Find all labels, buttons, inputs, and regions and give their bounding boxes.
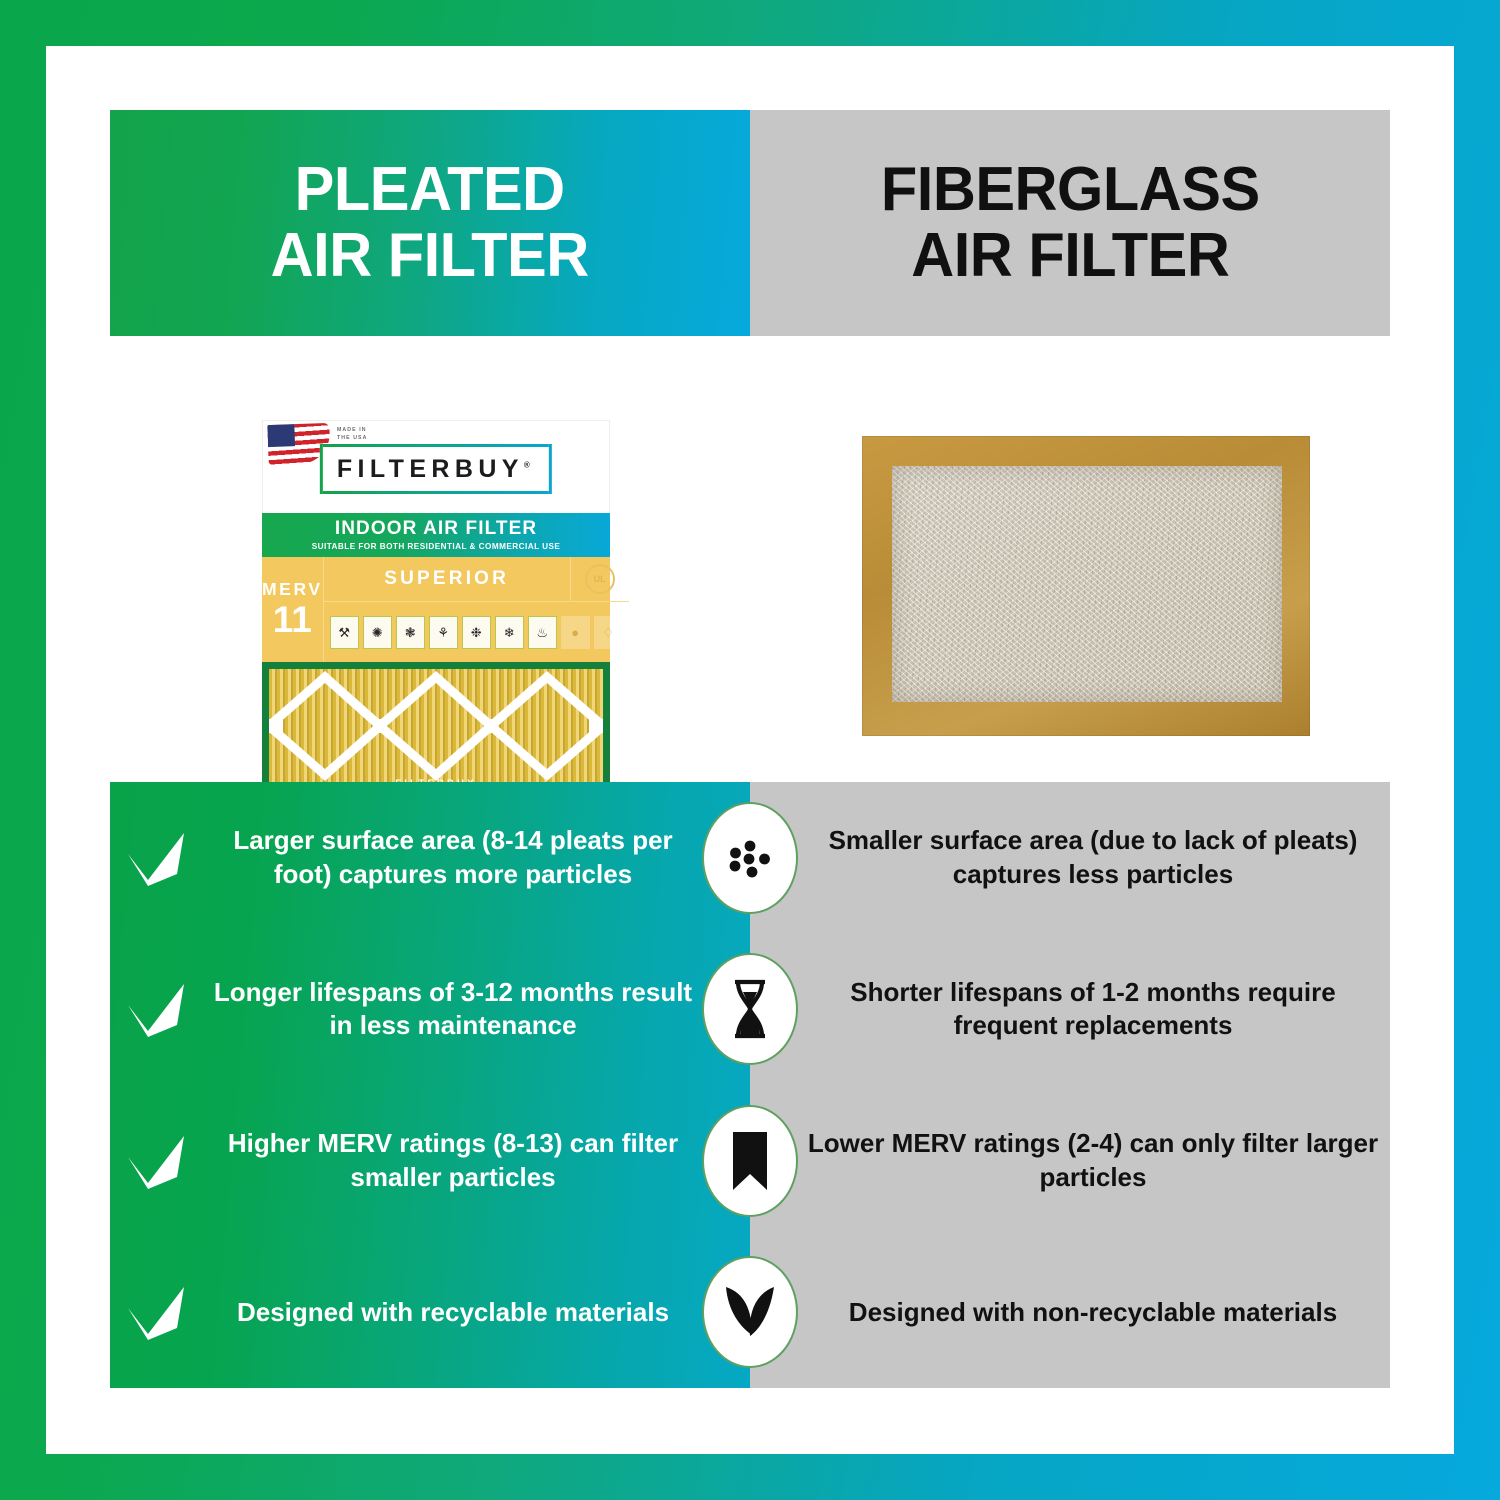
package-banner: INDOOR AIR FILTER SUITABLE FOR BOTH RESI… — [262, 513, 610, 557]
row-4-right-text: Designed with non-recyclable materials — [796, 1296, 1390, 1329]
pleat-fabric — [269, 669, 603, 783]
brand-word: FILTERBUY — [337, 455, 524, 483]
grade-label: SUPERIOR — [324, 568, 570, 590]
insect-icon: ✺ — [363, 616, 392, 649]
header-pleated-line2: AIR FILTER — [271, 221, 589, 290]
merv-value: 11 — [273, 601, 312, 638]
row-4-left-text: Designed with recyclable materials — [202, 1296, 704, 1329]
check-icon — [110, 830, 202, 886]
mold-icon: ⚘ — [429, 616, 458, 649]
header-fiberglass-line1: FIBERGLASS — [881, 155, 1260, 224]
header-pleated: PLEATED AIR FILTER — [110, 110, 750, 336]
header-pleated-line1: PLEATED — [295, 155, 565, 224]
made-in-usa-label: MADE INTHE USA — [337, 427, 367, 443]
row-4-left: Designed with recyclable materials — [110, 1284, 750, 1340]
header-pleated-title: PLEATED AIR FILTER — [271, 157, 589, 290]
feature-icon-row: ⚒ ✺ ❃ ⚘ ❉ ❄ ♨ ● ♢ — [324, 602, 629, 662]
ul-seal-icon: UL — [585, 564, 615, 594]
fiberglass-product-cell — [750, 336, 1390, 766]
pleated-media-face: FILTERBUY — [262, 662, 610, 790]
row-1-left: Larger surface area (8-14 pleats per foo… — [110, 824, 750, 891]
pleated-filter-package: MADE INTHE USA FILTERBUY® INDOOR AIR FIL… — [262, 420, 610, 790]
pleated-product-cell: MADE INTHE USA FILTERBUY® INDOOR AIR FIL… — [110, 336, 750, 766]
merv-label: MERV — [262, 581, 323, 599]
bookmark-icon — [702, 1105, 798, 1217]
merv-badge: MERV 11 — [262, 557, 324, 662]
row-3-right-text: Lower MERV ratings (2-4) can only filter… — [796, 1127, 1390, 1194]
package-brand-header: MADE INTHE USA FILTERBUY® — [262, 420, 610, 513]
row-1-right: Smaller surface area (due to lack of ple… — [750, 824, 1390, 891]
row-2-right-text: Shorter lifespans of 1-2 months require … — [796, 976, 1390, 1043]
package-banner-subtitle: SUITABLE FOR BOTH RESIDENTIAL & COMMERCI… — [312, 542, 561, 551]
comparison-row: Longer lifespans of 3-12 months result i… — [110, 934, 1390, 1086]
filterbuy-logo: FILTERBUY® — [320, 444, 552, 494]
registered-mark: ® — [524, 461, 535, 470]
row-3-right: Lower MERV ratings (2-4) can only filter… — [750, 1127, 1390, 1194]
comparison-row: Designed with recyclable materials Desig… — [110, 1237, 1390, 1389]
leaf-icon — [702, 1256, 798, 1368]
comparison-row: Higher MERV ratings (8-13) can filter sm… — [110, 1085, 1390, 1237]
odor-icon: ♢ — [594, 616, 623, 649]
fiberglass-filter-image — [862, 436, 1310, 736]
header-fiberglass-title: FIBERGLASS AIR FILTER — [881, 157, 1260, 290]
package-merv-section: MERV 11 SUPERIOR UL ⚒ ✺ ❃ — [262, 557, 610, 662]
package-banner-title: INDOOR AIR FILTER — [335, 519, 537, 539]
row-2-left-text: Longer lifespans of 3-12 months result i… — [202, 976, 704, 1043]
fiberglass-mesh — [892, 466, 1282, 702]
row-1-left-text: Larger surface area (8-14 pleats per foo… — [202, 824, 704, 891]
header-band: PLEATED AIR FILTER FIBERGLASS AIR FILTER — [110, 110, 1390, 336]
comparison-panel: Larger surface area (8-14 pleats per foo… — [110, 782, 1390, 1388]
comparison-row: Larger surface area (8-14 pleats per foo… — [110, 782, 1390, 934]
pet-dander-icon: ❄ — [495, 616, 524, 649]
comparison-rows: Larger surface area (8-14 pleats per foo… — [110, 782, 1390, 1388]
check-icon — [110, 981, 202, 1037]
diamond-lattice-icon — [269, 669, 603, 783]
filterbuy-logo-text: FILTERBUY® — [337, 457, 535, 482]
row-2-left: Longer lifespans of 3-12 months result i… — [110, 976, 750, 1043]
outer-gradient-border: PLEATED AIR FILTER FIBERGLASS AIR FILTER… — [0, 0, 1500, 1500]
row-3-left: Higher MERV ratings (8-13) can filter sm… — [110, 1127, 750, 1194]
row-3-left-text: Higher MERV ratings (8-13) can filter sm… — [202, 1127, 704, 1194]
virus-icon: ● — [561, 616, 590, 649]
ul-seal-area: UL — [570, 557, 629, 601]
bacteria-icon: ❉ — [462, 616, 491, 649]
row-4-right: Designed with non-recyclable materials — [750, 1296, 1390, 1329]
infographic-canvas: PLEATED AIR FILTER FIBERGLASS AIR FILTER… — [46, 46, 1454, 1454]
header-fiberglass: FIBERGLASS AIR FILTER — [750, 110, 1390, 336]
grade-row: SUPERIOR UL — [324, 557, 629, 602]
check-icon — [110, 1133, 202, 1189]
hourglass-icon — [702, 953, 798, 1065]
row-2-right: Shorter lifespans of 1-2 months require … — [750, 976, 1390, 1043]
pollen-icon: ❃ — [396, 616, 425, 649]
dust-icon: ⚒ — [330, 616, 359, 649]
particles-icon — [702, 802, 798, 914]
row-1-right-text: Smaller surface area (due to lack of ple… — [796, 824, 1390, 891]
product-images-row: MADE INTHE USA FILTERBUY® INDOOR AIR FIL… — [110, 336, 1390, 766]
package-grade-area: SUPERIOR UL ⚒ ✺ ❃ ⚘ ❉ ❄ ♨ — [324, 557, 629, 662]
check-icon — [110, 1284, 202, 1340]
smoke-icon: ♨ — [528, 616, 557, 649]
header-fiberglass-line2: AIR FILTER — [911, 221, 1229, 290]
